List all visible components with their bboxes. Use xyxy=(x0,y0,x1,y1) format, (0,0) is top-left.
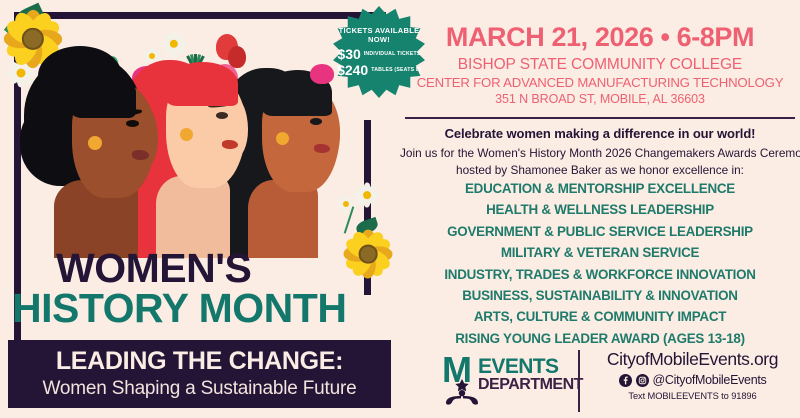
sms-instruction: Text MOBILEEVENTS to 91896 xyxy=(590,391,795,401)
social-row: @CityofMobileEvents xyxy=(590,373,795,387)
join-us-line-2: hosted by Shamonee Baker as we honor exc… xyxy=(400,163,800,177)
join-us-line-1: Join us for the Women's History Month 20… xyxy=(400,146,800,160)
celebrate-headline: Celebrate women making a difference in o… xyxy=(400,126,800,141)
ticket-label-individual: INDIVIDUAL TICKETS xyxy=(364,51,421,57)
event-date: MARCH 21, 2026 • 6-8PM xyxy=(400,22,800,53)
title-line-womens: WOMEN'S xyxy=(56,248,251,289)
earring xyxy=(88,136,102,150)
contact-block: CityofMobileEvents.org @CityofMobileEven… xyxy=(590,350,795,401)
award-category: ARTS, CULTURE & COMMUNITY IMPACT xyxy=(400,310,800,323)
event-flyer: WOMEN'S HISTORY MONTH LEADING THE CHANGE… xyxy=(0,0,800,418)
right-panel: MARCH 21, 2026 • 6-8PM BISHOP STATE COMM… xyxy=(400,0,800,418)
ticket-label-table: TABLES (SEATS 8) xyxy=(371,67,421,73)
social-handle: @CityofMobileEvents xyxy=(653,373,767,387)
award-category: BUSINESS, SUSTAINABILITY & INNOVATION xyxy=(400,289,800,302)
ticket-price-row-individual: $30 INDIVIDUAL TICKETS xyxy=(337,47,420,61)
woman-left xyxy=(24,40,184,258)
instagram-icon[interactable] xyxy=(636,374,649,387)
facebook-icon[interactable] xyxy=(619,374,632,387)
tagline-subtext: Women Shaping a Sustainable Future xyxy=(43,378,357,400)
venue-name: BISHOP STATE COMMUNITY COLLEGE xyxy=(400,56,800,74)
ticket-price-table: $240 xyxy=(337,63,368,77)
earring xyxy=(276,132,289,145)
website-url[interactable]: CityofMobileEvents.org xyxy=(590,350,795,369)
lips xyxy=(314,144,330,153)
lips xyxy=(222,140,238,149)
lips xyxy=(132,150,149,160)
award-category: RISING YOUNG LEADER AWARD (AGES 13-18) xyxy=(400,332,800,345)
tagline-banner: LEADING THE CHANGE: Women Shaping a Sust… xyxy=(8,340,391,408)
ticket-badge-content: TICKETS AVAILABLE NOW! $30 INDIVIDUAL TI… xyxy=(333,6,425,98)
ticket-badge[interactable]: TICKETS AVAILABLE NOW! $30 INDIVIDUAL TI… xyxy=(333,6,425,98)
award-category: INDUSTRY, TRADES & WORKFORCE INNOVATION xyxy=(400,268,800,281)
ticket-price-individual: $30 xyxy=(337,47,360,61)
award-category: GOVERNMENT & PUBLIC SERVICE LEADERSHIP xyxy=(400,225,800,238)
fleur-de-lis-icon xyxy=(444,379,480,405)
award-categories-list: EDUCATION & MENTORSHIP EXCELLENCE HEALTH… xyxy=(400,182,800,353)
award-category: HEALTH & WELLNESS LEADERSHIP xyxy=(400,203,800,216)
ticket-price-row-table: $240 TABLES (SEATS 8) xyxy=(337,63,421,77)
award-category: MILITARY & VETERAN SERVICE xyxy=(400,246,800,259)
hair-flower xyxy=(310,64,334,84)
award-category: EDUCATION & MENTORSHIP EXCELLENCE xyxy=(400,182,800,195)
divider-horizontal xyxy=(405,117,795,119)
eye xyxy=(216,112,228,119)
eye xyxy=(126,120,139,127)
afro-hair-front xyxy=(70,70,136,118)
logo-text-department: DEPARTMENT xyxy=(478,377,583,393)
three-women-illustration xyxy=(18,40,368,258)
events-department-logo: M EVENTS DEPARTMENT xyxy=(442,348,574,410)
logo-text-events: EVENTS xyxy=(478,356,558,377)
venue-address: 351 N BROAD ST, MOBILE, AL 36603 xyxy=(400,92,800,106)
venue-building: CENTER FOR ADVANCED MANUFACTURING TECHNO… xyxy=(400,75,800,90)
title-line-history-month: HISTORY MONTH xyxy=(12,288,346,329)
ticket-badge-headline: TICKETS AVAILABLE NOW! xyxy=(333,27,425,44)
eye xyxy=(310,118,322,125)
tagline-headline: LEADING THE CHANGE: xyxy=(56,348,343,374)
